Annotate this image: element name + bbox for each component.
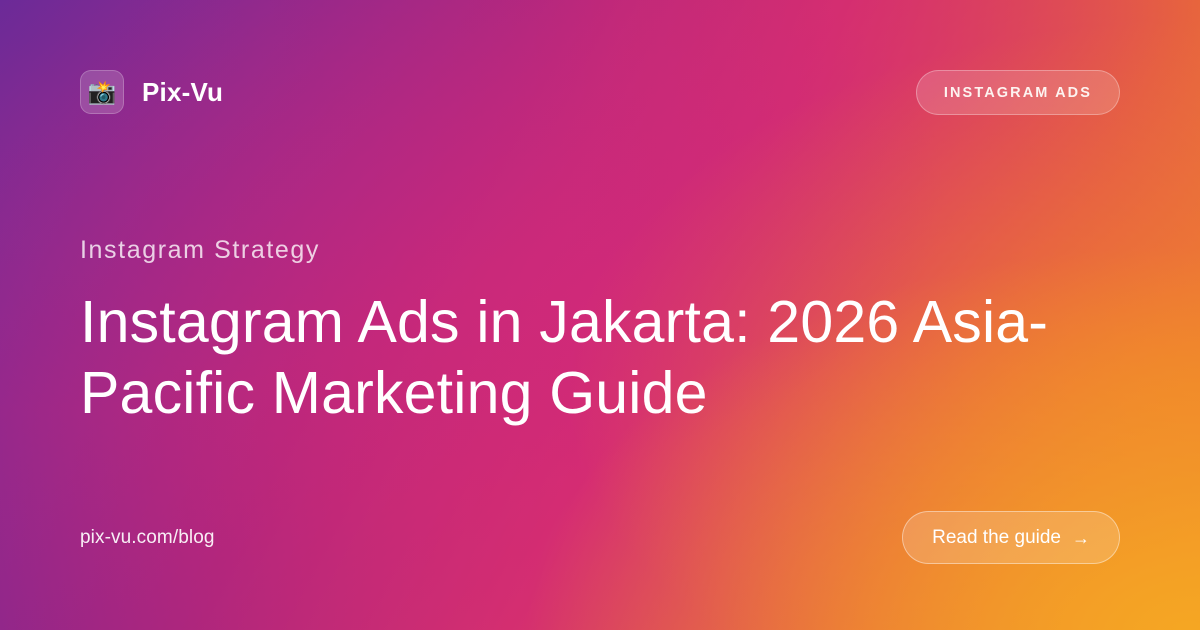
brand-name: Pix-Vu xyxy=(142,77,223,108)
banner-footer: pix-vu.com/blog Read the guide → xyxy=(80,511,1120,564)
banner-main: Instagram Strategy Instagram Ads in Jaka… xyxy=(80,236,1120,429)
category-badge: INSTAGRAM ADS xyxy=(916,70,1120,115)
brand-lockup[interactable]: 📸 Pix-Vu xyxy=(80,70,223,114)
read-the-guide-button[interactable]: Read the guide → xyxy=(902,511,1120,564)
cta-label: Read the guide xyxy=(932,527,1061,549)
og-banner-card: 📸 Pix-Vu INSTAGRAM ADS Instagram Strateg… xyxy=(0,0,1200,630)
site-url: pix-vu.com/blog xyxy=(80,527,215,549)
camera-icon: 📸 xyxy=(80,70,124,114)
arrow-right-icon: → xyxy=(1072,529,1090,547)
banner-header: 📸 Pix-Vu INSTAGRAM ADS xyxy=(0,0,1200,186)
page-title: Instagram Ads in Jakarta: 2026 Asia-Paci… xyxy=(80,287,1090,429)
camera-icon-glyph: 📸 xyxy=(88,81,117,104)
eyebrow-label: Instagram Strategy xyxy=(80,236,1120,265)
